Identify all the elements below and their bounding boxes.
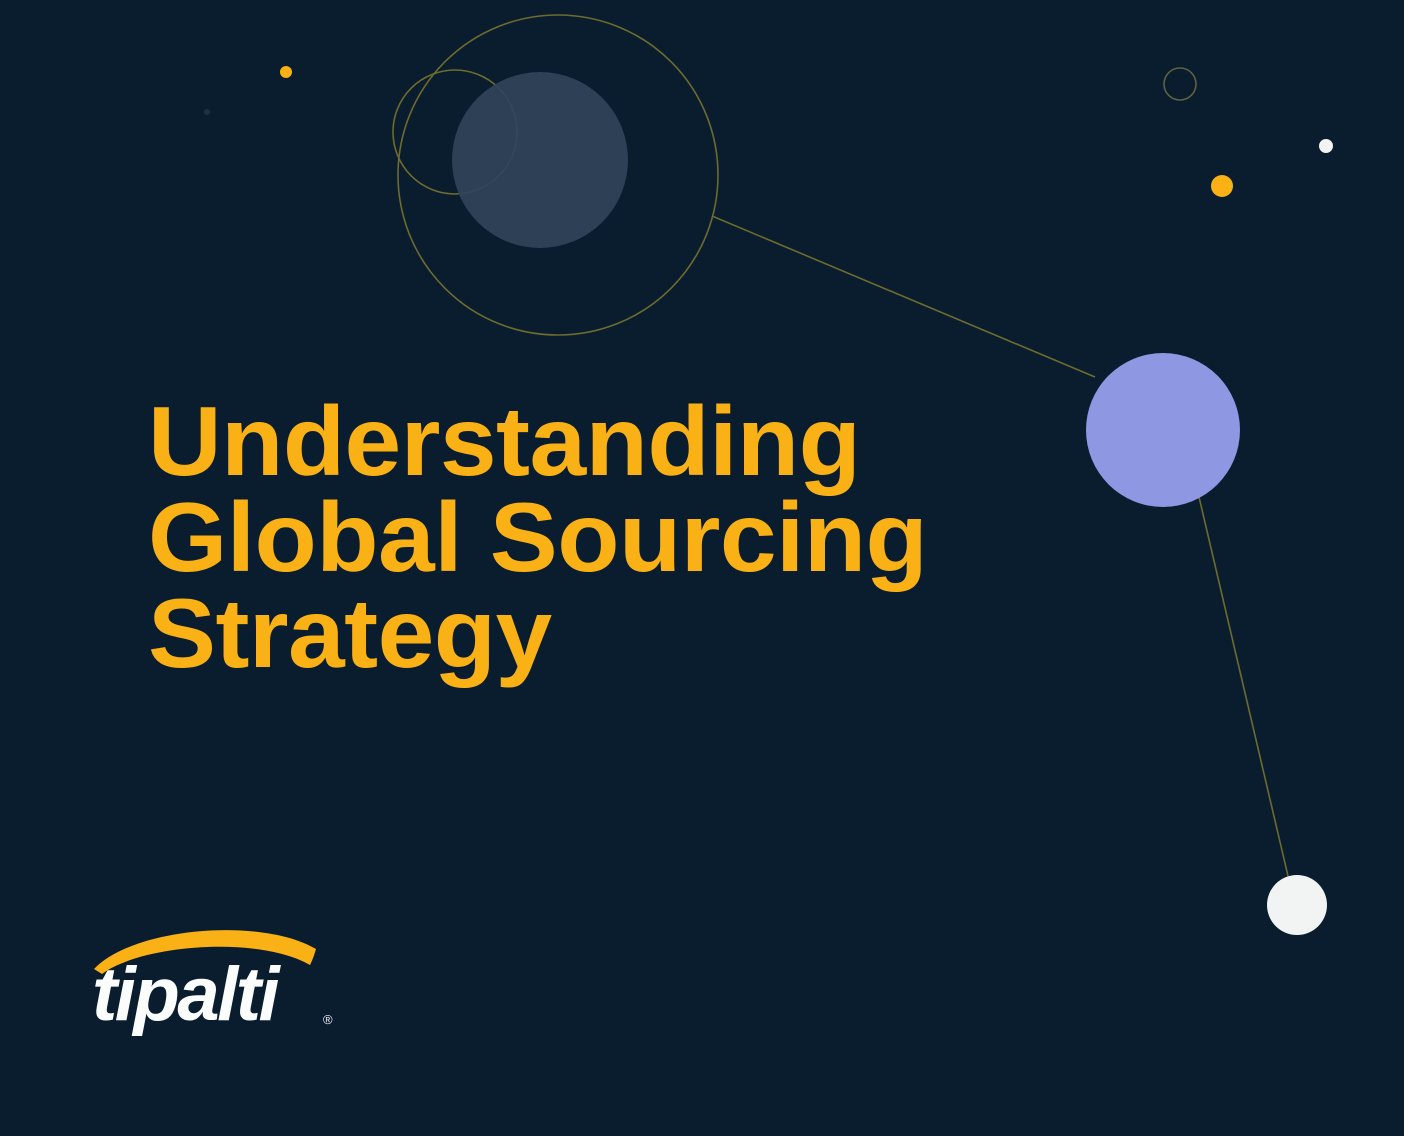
amber-dot-top-left (280, 66, 292, 78)
logo-trademark-symbol: ® (323, 1013, 333, 1026)
amber-dot-top-right (1211, 175, 1233, 197)
slide-canvas: Understanding Global Sourcing Strategy t… (0, 0, 1404, 1136)
logo-wordmark: tipalti (92, 957, 277, 1033)
tipalti-logo: tipalti ® (92, 925, 342, 1035)
white-dot-top-right (1319, 139, 1333, 153)
outline-circle-small (393, 70, 517, 194)
headline-line-1: Understanding (148, 393, 1167, 489)
connector-upper-line (712, 216, 1095, 377)
headline-line-3: Strategy (148, 585, 1167, 681)
outline-circle-large (398, 15, 718, 335)
faint-dot-top-left (204, 109, 210, 115)
white-circle-bottom-right (1267, 875, 1327, 935)
connector-lower-line (1199, 497, 1288, 876)
filled-slate-circle (452, 72, 628, 248)
page-title: Understanding Global Sourcing Strategy (148, 393, 1128, 681)
outline-circle-tiny-top-right (1164, 68, 1196, 100)
headline-line-2: Global Sourcing (148, 489, 1167, 585)
